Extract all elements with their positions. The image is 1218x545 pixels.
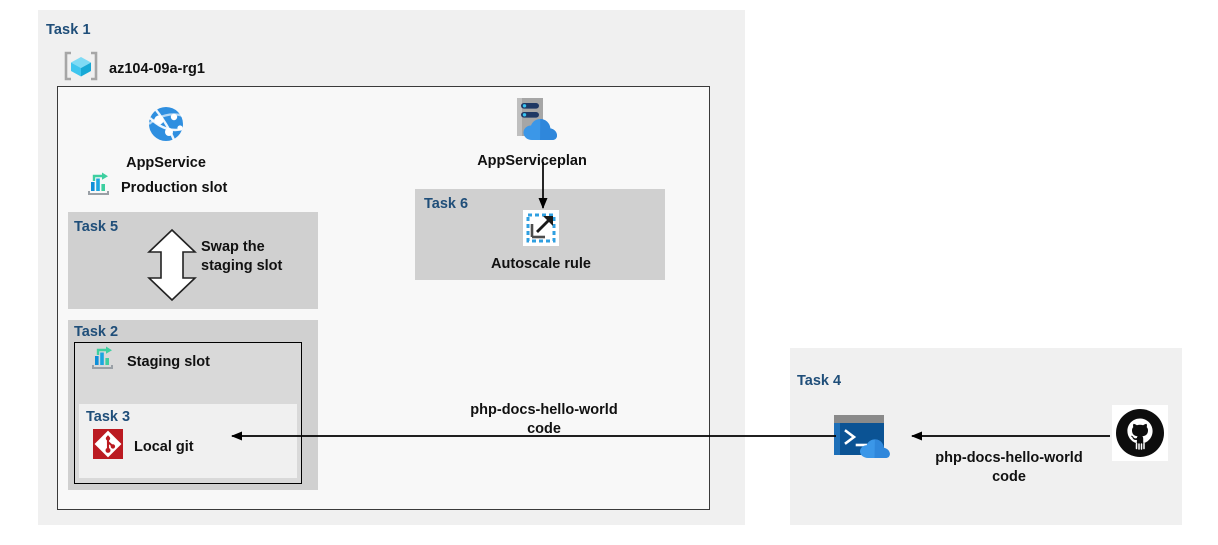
- task3-label: Task 3: [86, 409, 130, 425]
- task5-action-text: Swap the staging slot: [201, 238, 313, 276]
- github-octocat-icon: [1112, 405, 1168, 466]
- local-git-node: Local git: [93, 429, 194, 464]
- autoscale-rule-label: Autoscale rule: [485, 256, 597, 272]
- task5-label: Task 5: [74, 219, 118, 235]
- appserviceplan-label: AppServiceplan: [474, 153, 590, 169]
- resource-group-icon: [62, 50, 100, 87]
- resource-group-node: az104-09a-rg1: [62, 50, 205, 87]
- app-service-plan-icon: [503, 132, 561, 149]
- task2-label: Task 2: [74, 324, 118, 340]
- appservice-node: AppService: [110, 102, 222, 171]
- autoscale-icon: [523, 233, 559, 250]
- task4-label: Task 4: [797, 373, 841, 389]
- git-icon: [93, 429, 123, 464]
- appserviceplan-node: AppServiceplan: [474, 95, 590, 169]
- deployment-slot-icon: [86, 172, 114, 203]
- deployment-slot-icon: [90, 346, 118, 377]
- diagram-canvas: Task 1 az104-09a-rg1: [0, 0, 1218, 545]
- app-service-icon: [144, 133, 188, 150]
- staging-slot-node: Staging slot: [90, 346, 210, 377]
- cloud-shell-icon: [832, 412, 902, 467]
- autoscale-rule-node: Autoscale rule: [485, 210, 597, 272]
- cloudshell-to-localgit-edge-label: php-docs-hello-world code: [453, 401, 635, 439]
- swap-double-arrow-icon: [145, 228, 199, 307]
- github-to-cloudshell-edge-label: php-docs-hello-world code: [918, 449, 1100, 487]
- production-slot-node: Production slot: [86, 172, 227, 203]
- resource-group-name: az104-09a-rg1: [109, 61, 205, 77]
- appservice-label: AppService: [110, 155, 222, 171]
- staging-slot-label: Staging slot: [127, 354, 210, 370]
- local-git-label: Local git: [134, 439, 194, 455]
- task1-label: Task 1: [46, 22, 91, 38]
- task6-label: Task 6: [424, 196, 468, 212]
- production-slot-label: Production slot: [121, 180, 227, 196]
